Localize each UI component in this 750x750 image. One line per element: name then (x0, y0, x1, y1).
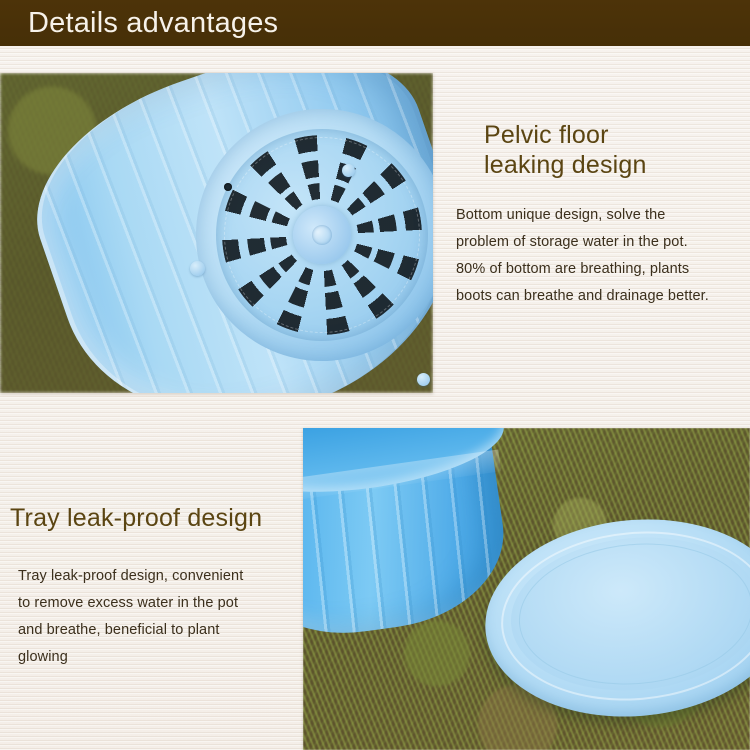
pot-foot-nub (417, 373, 430, 386)
pot-bottom-drainage-photo (0, 73, 433, 393)
section-heading-pelvic-floor: Pelvic floor leaking design (484, 120, 647, 180)
section-paragraph-tray-leak-proof: Tray leak-proof design, convenient to re… (18, 563, 298, 671)
pot-pin-hole (224, 183, 232, 191)
pot-and-saucer-photo (303, 428, 750, 750)
page-header-bar: Details advantages (0, 0, 750, 46)
section-heading-tray-leak-proof: Tray leak-proof design (10, 503, 262, 533)
pot-foot-nub (190, 261, 205, 276)
page-title: Details advantages (28, 4, 278, 42)
pot-foot-nub (342, 164, 355, 177)
section-paragraph-pelvic-floor: Bottom unique design, solve the problem … (456, 202, 750, 310)
